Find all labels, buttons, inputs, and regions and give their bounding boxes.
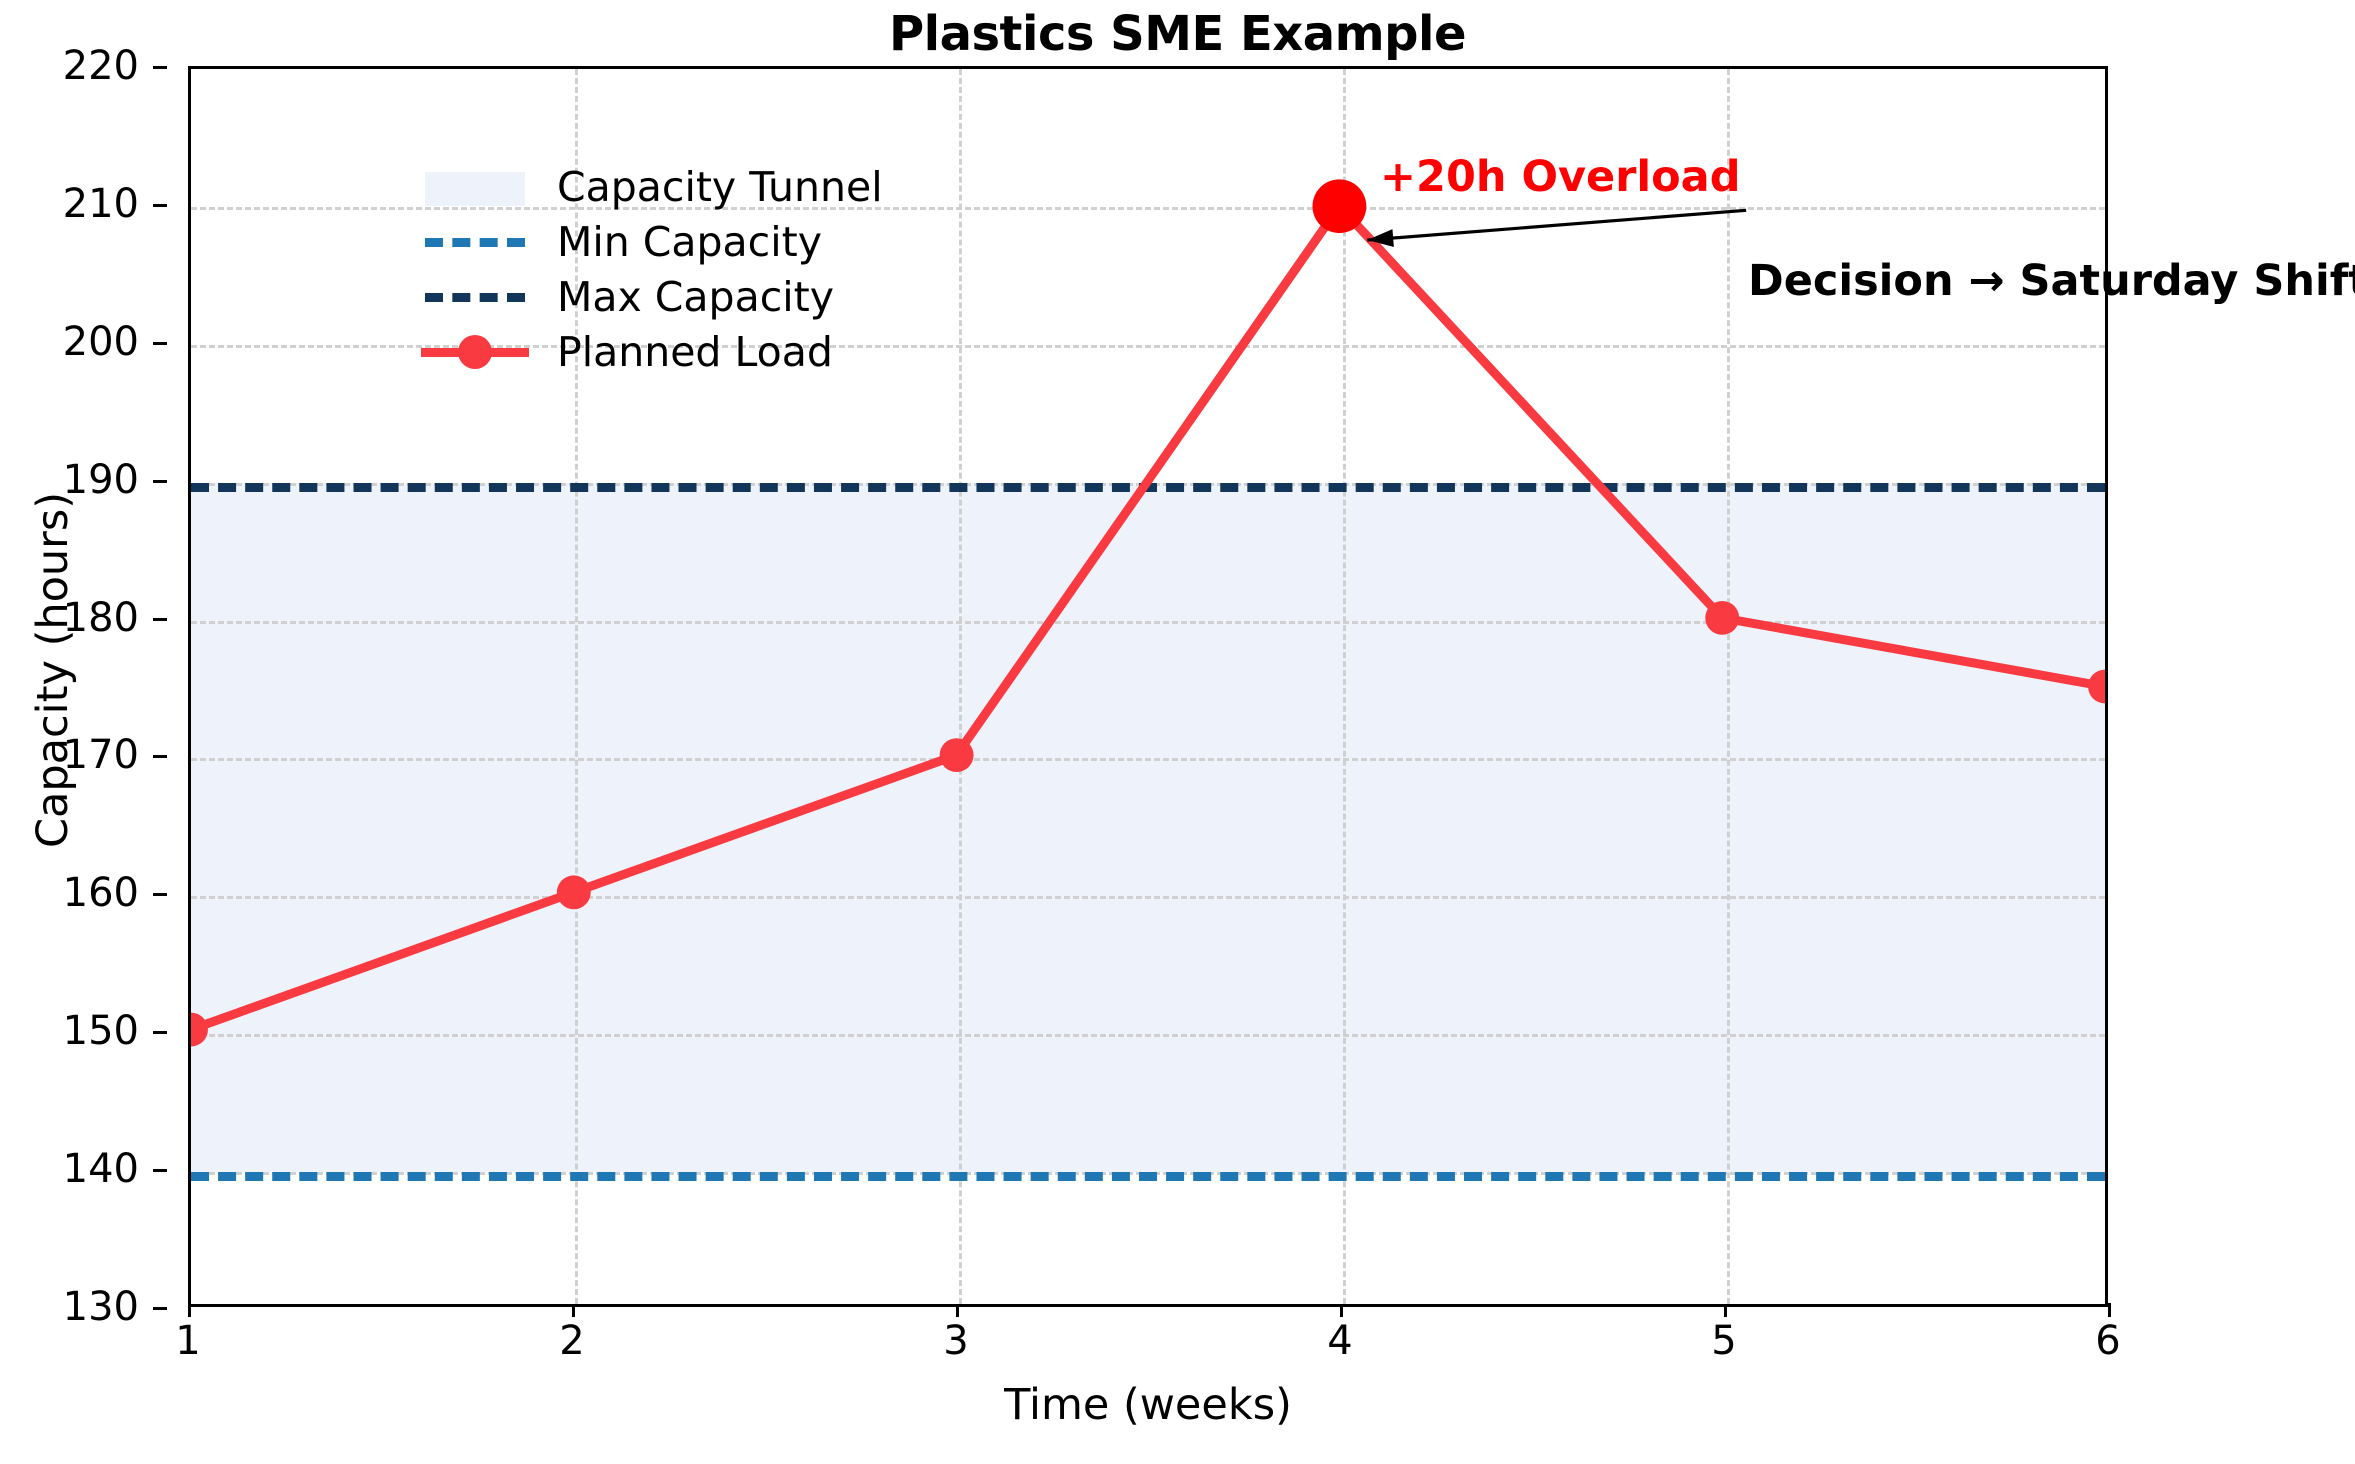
legend-item[interactable]: Min Capacity: [417, 214, 883, 269]
y-axis-tick-mark: [153, 66, 167, 69]
y-axis-tick-mark: [153, 618, 167, 621]
chart-legend: Capacity TunnelMin CapacityMax CapacityP…: [405, 151, 901, 389]
annotation-arrow-head: [1367, 229, 1394, 247]
y-axis-tick-label: 150: [0, 1008, 139, 1054]
chart-title: Plastics SME Example: [0, 6, 2355, 62]
y-axis-tick-label: 140: [0, 1146, 139, 1192]
y-axis-tick-label: 190: [0, 457, 139, 503]
legend-dashed-line-icon: [425, 293, 525, 302]
legend-item-label: Max Capacity: [557, 273, 834, 321]
x-axis-tick-label: 2: [512, 1318, 632, 1364]
y-axis-tick-label: 160: [0, 870, 139, 916]
y-axis-tick-mark: [153, 342, 167, 345]
x-axis-tick-mark: [2108, 1303, 2111, 1317]
chart-figure: Plastics SME Example Capacity (hours) Ti…: [0, 0, 2355, 1464]
legend-item-label: Capacity Tunnel: [557, 163, 883, 211]
decision-annotation-label: Decision → Saturday Shift: [1748, 256, 2355, 306]
annotation-arrow-line: [1367, 210, 1746, 240]
legend-line-marker-icon: [421, 348, 529, 357]
legend-dashed-line-icon: [425, 238, 525, 247]
x-axis-title: Time (weeks): [188, 1380, 2108, 1430]
x-axis-tick-label: 5: [1664, 1318, 1784, 1364]
y-axis-tick-mark: [153, 893, 167, 896]
y-axis-tick-mark: [153, 1169, 167, 1172]
y-axis-tick-label: 170: [0, 732, 139, 778]
legend-key-swatch: [417, 330, 535, 374]
x-axis-tick-label: 4: [1280, 1318, 1400, 1364]
legend-item[interactable]: Max Capacity: [417, 269, 883, 324]
legend-key-swatch: [417, 220, 535, 264]
legend-key-swatch: [417, 275, 535, 319]
y-axis-tick-label: 130: [0, 1284, 139, 1330]
x-axis-tick-label: 1: [128, 1318, 248, 1364]
plot-area: Capacity TunnelMin CapacityMax CapacityP…: [188, 66, 2108, 1307]
legend-item-label: Min Capacity: [557, 218, 822, 266]
y-axis-tick-mark: [153, 480, 167, 483]
y-axis-tick-label: 220: [0, 43, 139, 89]
legend-key-swatch: [417, 165, 535, 209]
legend-patch-icon: [425, 172, 525, 206]
y-axis-tick-mark: [153, 1307, 167, 1310]
legend-item[interactable]: Planned Load: [417, 324, 883, 379]
x-axis-tick-label: 3: [896, 1318, 1016, 1364]
y-axis-tick-label: 200: [0, 319, 139, 365]
y-axis-tick-label: 180: [0, 595, 139, 641]
y-axis-tick-mark: [153, 204, 167, 207]
x-axis-tick-label: 6: [2048, 1318, 2168, 1364]
overload-annotation-label: +20h Overload: [1380, 152, 1740, 202]
legend-item-label: Planned Load: [557, 328, 833, 376]
y-axis-tick-mark: [153, 1031, 167, 1034]
y-axis-tick-label: 210: [0, 181, 139, 227]
legend-item[interactable]: Capacity Tunnel: [417, 159, 883, 214]
y-axis-tick-mark: [153, 755, 167, 758]
